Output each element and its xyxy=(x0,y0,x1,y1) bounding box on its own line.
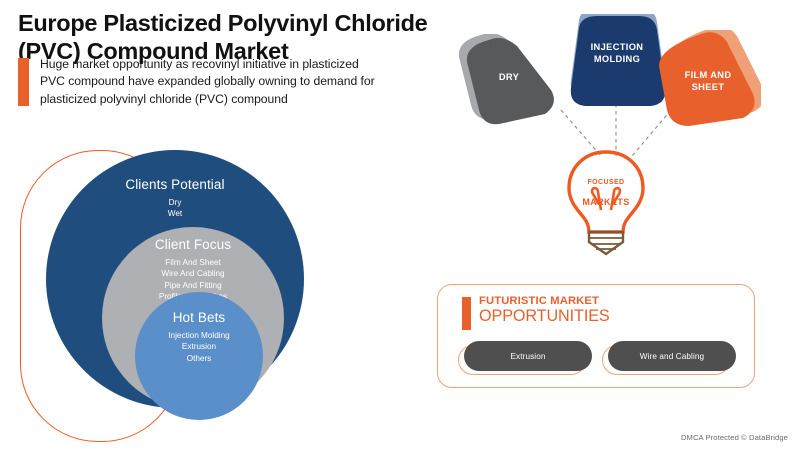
ring-title-hot-bets: Hot Bets xyxy=(135,310,263,325)
slide-canvas: Europe Plasticized Polyvinyl Chloride (P… xyxy=(0,0,800,450)
opportunity-pill-label[interactable]: Extrusion xyxy=(464,341,592,371)
petal-dry[interactable]: DRY xyxy=(459,34,559,126)
concentric-circles-diagram: Clients Potential Dry Wet Client Focus F… xyxy=(18,145,338,450)
opportunities-title-group: FUTURISTIC MARKET OPPORTUNITIES xyxy=(479,296,610,330)
futuristic-market-opportunities-panel: FUTURISTIC MARKET OPPORTUNITIES Extrusio… xyxy=(437,284,755,388)
ring-title-client-focus: Client Focus xyxy=(102,237,284,252)
footer-copyright: DMCA Protected © DataBridge xyxy=(681,433,788,442)
focused-markets-bulb[interactable]: FOCUSED MARKETS xyxy=(556,148,656,256)
ring-hot-bets[interactable]: Hot Bets Injection Molding Extrusion Oth… xyxy=(135,292,263,420)
opportunity-pill-extrusion[interactable]: Extrusion xyxy=(458,341,586,375)
petal-film-and-sheet-label: FILM AND SHEET xyxy=(655,70,761,93)
opportunities-title-line1: FUTURISTIC MARKET xyxy=(479,296,610,308)
opportunities-accent-bar xyxy=(462,297,471,330)
opportunities-heading: FUTURISTIC MARKET OPPORTUNITIES xyxy=(462,296,610,330)
opportunity-pill-label[interactable]: Wire and Cabling xyxy=(608,341,736,371)
subtitle-row: Huge market opportunity as recovinyl ini… xyxy=(18,56,478,108)
opportunity-pill-wire-and-cabling[interactable]: Wire and Cabling xyxy=(602,341,730,375)
lightbulb-icon xyxy=(556,148,656,256)
opportunities-title-line2: OPPORTUNITIES xyxy=(479,308,610,325)
ring-items-clients-potential: Dry Wet xyxy=(46,197,304,220)
page-subtitle: Huge market opportunity as recovinyl ini… xyxy=(40,56,375,108)
title-accent-bar xyxy=(18,58,29,106)
focused-markets-fan: DRY INJECTION MOLDING FILM AND SHEET xyxy=(455,4,785,149)
ring-title-clients-potential: Clients Potential xyxy=(46,177,304,192)
ring-items-hot-bets: Injection Molding Extrusion Others xyxy=(135,330,263,364)
petal-film-and-sheet[interactable]: FILM AND SHEET xyxy=(655,30,761,128)
petal-dry-label: DRY xyxy=(459,72,559,84)
